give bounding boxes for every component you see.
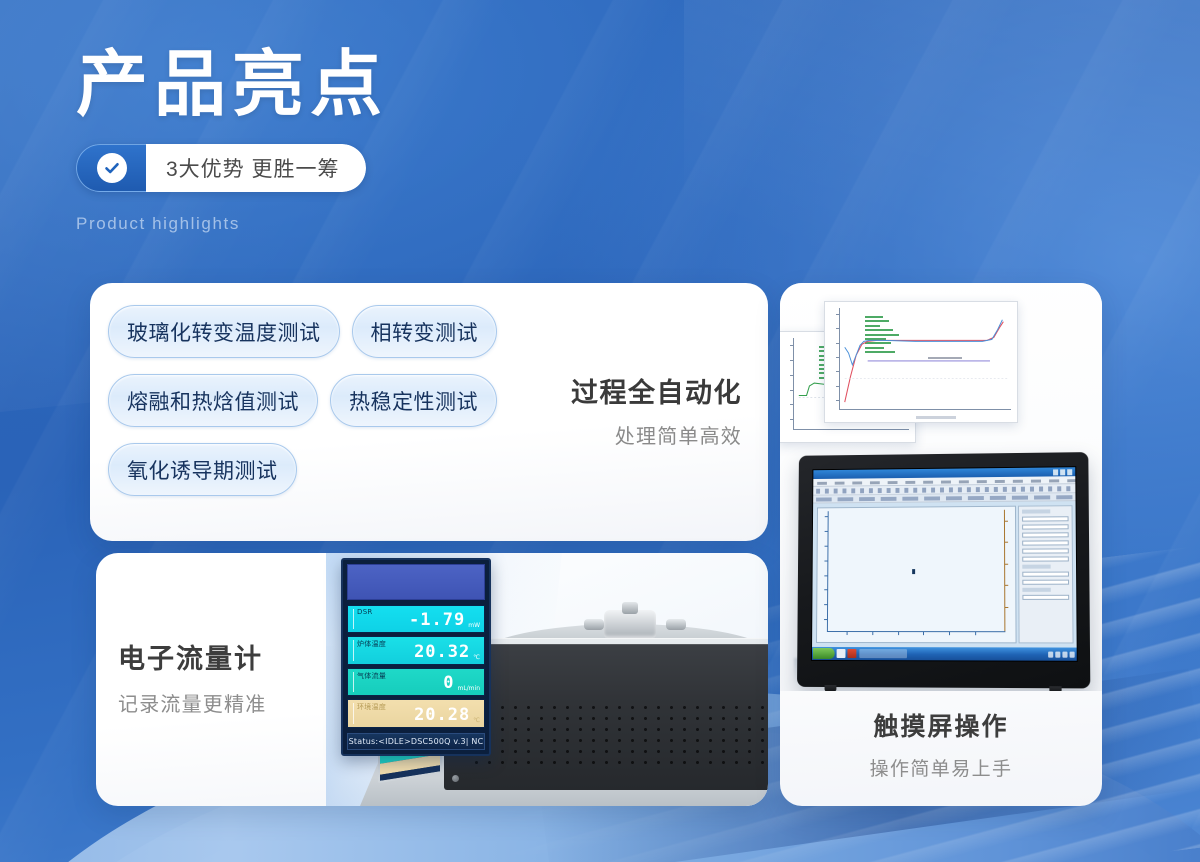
dsc-screw bbox=[452, 775, 459, 782]
chart-x-axis-label bbox=[916, 416, 956, 419]
touchscreen-caption-subtitle: 操作简单易上手 bbox=[780, 754, 1102, 781]
feature-tag[interactable]: 玻璃化转变温度测试 bbox=[108, 305, 340, 358]
readout-value: -1.79 bbox=[409, 612, 465, 631]
readout-unit: mW bbox=[468, 622, 480, 631]
feature-tag[interactable]: 氧化诱导期测试 bbox=[108, 443, 297, 496]
start-button-icon[interactable] bbox=[813, 648, 835, 659]
readout-accent-bar bbox=[353, 703, 354, 723]
taskbar-icon-app[interactable] bbox=[847, 649, 856, 658]
badge-icon-area bbox=[76, 144, 146, 192]
readout-ambient-temperature: 环境温度 20.28 ℃ bbox=[347, 699, 485, 727]
windows-taskbar[interactable] bbox=[812, 647, 1077, 661]
flow-meter-card: 电子流量计 记录流量更精准 bbox=[96, 553, 768, 806]
readout-label: DSR bbox=[357, 608, 373, 616]
feature-tag-row: 熔融和热焓值测试 热稳定性测试 bbox=[108, 374, 568, 427]
chart-window-front bbox=[824, 301, 1018, 423]
feature-tag[interactable]: 熔融和热焓值测试 bbox=[108, 374, 318, 427]
feature-tag-list: 玻璃化转变温度测试 相转变测试 熔融和热焓值测试 热稳定性测试 氧化诱导期测试 bbox=[108, 305, 568, 512]
dsc-furnace-cap bbox=[604, 610, 656, 638]
chart-inline-label bbox=[928, 357, 962, 361]
panel-status-bar: Status:<IDLE>DSC500Q v.3| NC bbox=[347, 733, 485, 750]
flow-caption-subtitle: 记录流量更精准 bbox=[118, 688, 266, 717]
plot-left-axis bbox=[827, 511, 829, 632]
readout-dsr: DSR -1.79 mW bbox=[347, 605, 485, 633]
features-caption-subtitle: 处理简单高效 bbox=[571, 420, 742, 449]
monitor-foot bbox=[825, 685, 837, 691]
page-title: 产品亮点 bbox=[76, 46, 388, 122]
taskbar-window-item[interactable] bbox=[859, 649, 907, 658]
flow-caption: 电子流量计 记录流量更精准 bbox=[118, 637, 266, 717]
plot-cursor-icon bbox=[912, 569, 915, 574]
feature-tag[interactable]: 热稳定性测试 bbox=[330, 374, 497, 427]
chart-curves bbox=[839, 308, 1011, 410]
readout-label: 气体流量 bbox=[357, 671, 386, 681]
readout-label: 炉体温度 bbox=[357, 639, 386, 649]
readout-label: 环境温度 bbox=[357, 702, 386, 712]
readout-gas-flow: 气体流量 0 mL/min bbox=[347, 668, 485, 696]
readout-unit: mL/min bbox=[457, 685, 480, 694]
page-subtitle: Product highlights bbox=[76, 214, 388, 234]
plot-right-axis bbox=[1004, 510, 1005, 632]
touchscreen-caption: 触摸屏操作 操作简单易上手 bbox=[780, 707, 1102, 781]
system-tray[interactable] bbox=[1048, 651, 1075, 657]
dsc-port-left bbox=[584, 619, 604, 630]
features-caption-title: 过程全自动化 bbox=[571, 371, 742, 410]
readout-accent-bar bbox=[353, 640, 354, 660]
dsc-furnace-knob bbox=[622, 602, 638, 614]
window-content bbox=[812, 501, 1077, 647]
highlight-badge: 3大优势 更胜一筹 bbox=[76, 144, 366, 192]
feature-tag-row: 氧化诱导期测试 bbox=[108, 443, 568, 496]
readout-accent-bar bbox=[353, 609, 354, 629]
monitor-foot bbox=[1049, 686, 1061, 691]
software-plot-area[interactable] bbox=[816, 506, 1017, 644]
dsc-port-right bbox=[666, 619, 686, 630]
readout-value: 20.32 bbox=[414, 644, 470, 663]
touchscreen-card: 触摸屏操作 操作简单易上手 bbox=[780, 283, 1102, 806]
software-side-panel[interactable] bbox=[1018, 505, 1074, 643]
readout-unit: ℃ bbox=[473, 654, 480, 663]
touchscreen-photo bbox=[780, 283, 1102, 691]
taskbar-icon[interactable] bbox=[837, 649, 846, 658]
flow-meter-display-panel[interactable]: DSR -1.79 mW 炉体温度 20.32 ℃ 气体流量 0 mL/min … bbox=[341, 558, 491, 756]
flow-caption-title: 电子流量计 bbox=[118, 637, 266, 676]
monitor-screen[interactable] bbox=[811, 466, 1078, 662]
page-header: 产品亮点 3大优势 更胜一筹 Product highlights bbox=[76, 46, 388, 234]
plot-bottom-axis bbox=[827, 631, 1005, 632]
readout-value: 0 bbox=[443, 675, 454, 694]
feature-tag-row: 玻璃化转变温度测试 相转变测试 bbox=[108, 305, 568, 358]
readout-accent-bar bbox=[353, 672, 354, 692]
features-card: 玻璃化转变温度测试 相转变测试 熔融和热焓值测试 热稳定性测试 氧化诱导期测试 … bbox=[90, 283, 768, 541]
badge-label: 3大优势 更胜一筹 bbox=[146, 144, 366, 192]
feature-tag[interactable]: 相转变测试 bbox=[352, 305, 498, 358]
check-circle-icon bbox=[97, 153, 127, 183]
readout-unit: ℃ bbox=[473, 717, 480, 726]
readout-furnace-temperature: 炉体温度 20.32 ℃ bbox=[347, 636, 485, 664]
readout-value: 20.28 bbox=[414, 707, 470, 726]
features-caption: 过程全自动化 处理简单高效 bbox=[571, 371, 742, 449]
panel-header-bar bbox=[347, 564, 485, 600]
touchscreen-caption-title: 触摸屏操作 bbox=[780, 707, 1102, 743]
chart-plot-area bbox=[839, 308, 1011, 410]
touchscreen-monitor[interactable] bbox=[797, 452, 1090, 688]
dsc-main-body bbox=[444, 644, 768, 790]
dsc-vent-holes bbox=[470, 702, 768, 764]
